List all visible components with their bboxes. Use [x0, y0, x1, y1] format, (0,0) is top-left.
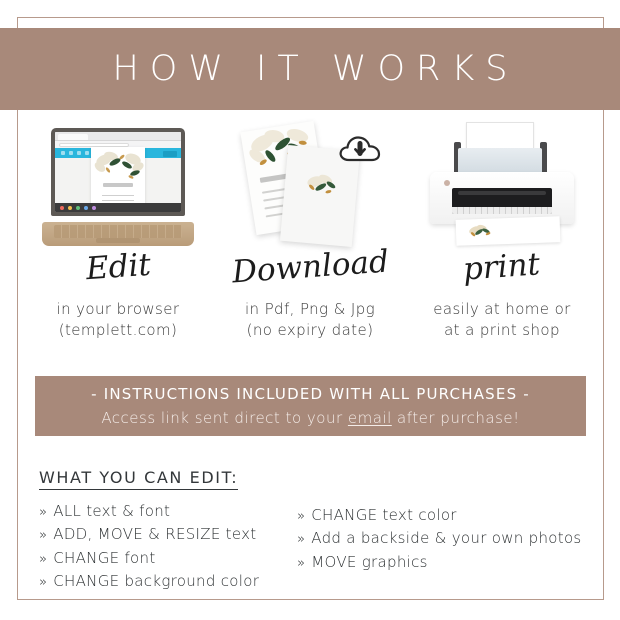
toolbar-button	[163, 151, 177, 157]
printed-card	[456, 216, 561, 246]
edit-lists: »ALL text & font »ADD, MOVE & RESIZE tex…	[39, 500, 585, 593]
download-illustration	[214, 118, 406, 246]
floral-graphic	[289, 165, 360, 211]
step-download: Download in Pdf, Png & Jpg (no expiry da…	[214, 118, 406, 348]
list-item-label: MOVE graphics	[311, 551, 428, 574]
bullet-icon: »	[297, 507, 305, 527]
dock-icon	[60, 206, 64, 210]
laptop-illustration	[22, 118, 214, 246]
cloud-download-icon	[338, 132, 382, 166]
laptop-screen	[55, 132, 181, 212]
invitation-text-line	[102, 200, 134, 201]
printer-illustration	[406, 118, 598, 246]
step-caption: in your browser (templett.com)	[57, 299, 180, 340]
toolbar-icon	[61, 151, 65, 155]
step-print: print easily at home or at a print shop	[406, 118, 598, 348]
step-caption-line1: in Pdf, Png & Jpg	[245, 299, 375, 320]
list-item-label: CHANGE font	[53, 547, 155, 570]
dock-icon	[84, 206, 88, 210]
step-caption: easily at home or at a print shop	[433, 299, 571, 340]
list-item-label: CHANGE text color	[311, 504, 457, 527]
browser-viewport	[55, 158, 181, 203]
edit-list-right: »CHANGE text color »Add a backside & you…	[297, 500, 585, 593]
step-script-label: Download	[231, 247, 390, 289]
browser-tabbar	[55, 132, 181, 141]
invitation-text-line	[102, 195, 134, 196]
laptop-lid	[51, 128, 185, 216]
instructions-banner: - INSTRUCTIONS INCLUDED WITH ALL PURCHAS…	[35, 376, 586, 436]
step-edit: Edit in your browser (templett.com)	[22, 118, 214, 348]
browser-tab	[58, 134, 88, 140]
steps-row: Edit in your browser (templett.com)	[22, 118, 598, 348]
list-item-label: CHANGE background color	[53, 570, 259, 593]
step-caption-line2: (templett.com)	[57, 320, 180, 341]
email-link[interactable]: email	[348, 409, 392, 427]
laptop-keyboard-base	[42, 222, 194, 246]
step-script-label: print	[462, 249, 541, 285]
instructions-subline: Access link sent direct to your email af…	[101, 409, 519, 427]
page-title: HOW IT WORKS	[101, 49, 518, 89]
list-item: »ALL text & font	[39, 500, 297, 523]
list-item: »ADD, MOVE & RESIZE text	[39, 523, 297, 546]
how-it-works-infographic: HOW IT WORKS	[0, 0, 620, 620]
step-caption-line1: in your browser	[57, 299, 180, 320]
dock-icon	[92, 206, 96, 210]
step-caption: in Pdf, Png & Jpg (no expiry date)	[245, 299, 375, 340]
invitation-cards-group	[240, 124, 380, 246]
dock-icon	[76, 206, 80, 210]
printer-device-icon	[426, 122, 578, 246]
title-banner: HOW IT WORKS	[0, 28, 620, 110]
instructions-headline: - INSTRUCTIONS INCLUDED WITH ALL PURCHAS…	[91, 385, 530, 403]
dock-icon	[68, 206, 72, 210]
bullet-icon: »	[297, 530, 305, 550]
bullet-icon: »	[297, 554, 305, 574]
bullet-icon: »	[39, 503, 47, 523]
bullet-icon: »	[39, 550, 47, 570]
browser-statusbar	[55, 203, 181, 212]
list-item: »CHANGE background color	[39, 570, 297, 593]
bullet-icon: »	[39, 526, 47, 546]
invitation-names	[103, 183, 133, 187]
list-item-label: Add a backside & your own photos	[311, 527, 581, 550]
printer-output-slot	[452, 188, 552, 214]
list-item: »Add a backside & your own photos	[297, 527, 585, 550]
list-item-label: ALL text & font	[53, 500, 170, 523]
edit-section-heading: WHAT YOU CAN EDIT:	[39, 468, 238, 490]
instructions-subline-before: Access link sent direct to your	[101, 409, 348, 427]
bullet-icon: »	[39, 573, 47, 593]
list-item: »CHANGE font	[39, 547, 297, 570]
list-item: »CHANGE text color	[297, 504, 585, 527]
toolbar-icon	[85, 151, 89, 155]
step-caption-line2: at a print shop	[433, 320, 571, 341]
step-script-label: Edit	[85, 250, 152, 285]
step-caption-line2: (no expiry date)	[245, 320, 375, 341]
edit-list-left: »ALL text & font »ADD, MOVE & RESIZE tex…	[39, 500, 297, 593]
list-item: »MOVE graphics	[297, 551, 585, 574]
printer-power-button	[444, 180, 450, 186]
toolbar-icon	[69, 151, 73, 155]
list-item-label: ADD, MOVE & RESIZE text	[53, 523, 256, 546]
floral-graphic	[466, 223, 497, 240]
laptop-device-icon	[42, 128, 194, 246]
step-caption-line1: easily at home or	[433, 299, 571, 320]
toolbar-icon	[77, 151, 81, 155]
instructions-subline-after: after purchase!	[392, 409, 520, 427]
